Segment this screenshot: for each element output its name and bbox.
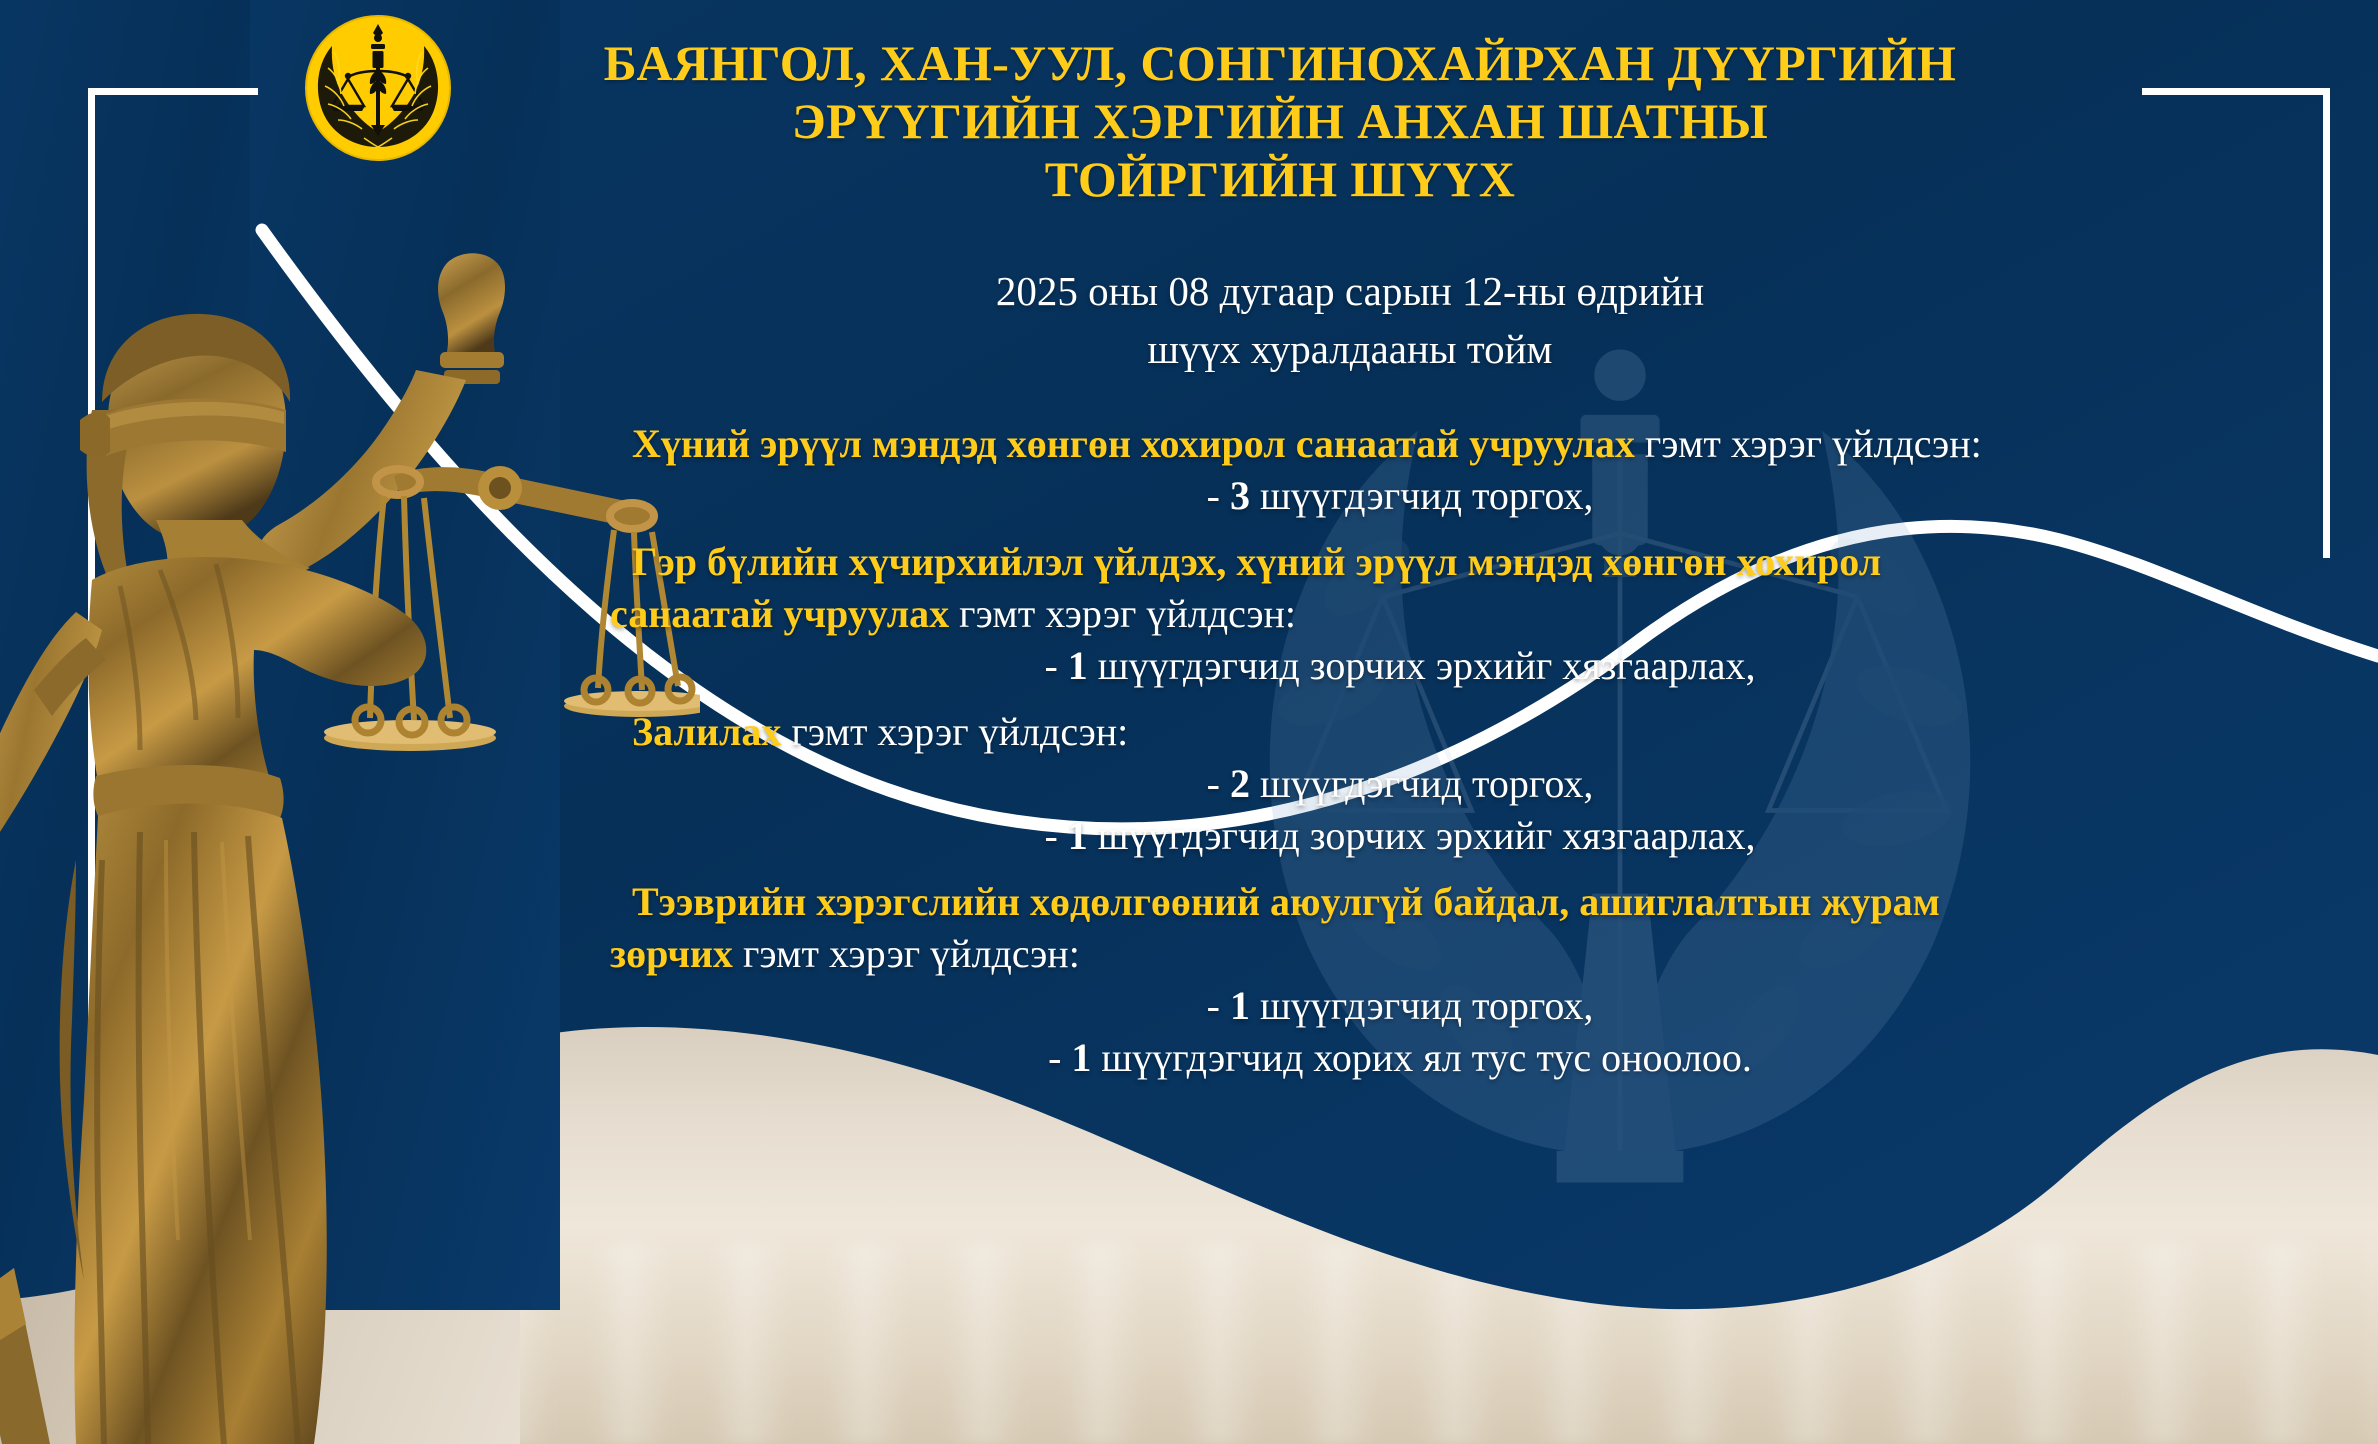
verdict-summary-body: Хүний эрүүл мэндэд хөнгөн хохирол санаат… [610,418,2130,1084]
date-line-1: 2025 оны 08 дугаар сарын 12-ны өдрийн [600,262,2100,320]
verdict-count: 1 [1071,1035,1091,1080]
verdict-line: - 1 шүүгдэгчид зорчих эрхийг хязгаарлах, [610,810,2130,862]
title-line-2: ЭРҮҮГИЙН ХЭРГИЙН АНХАН ШАТНЫ [470,92,2090,150]
verdict-count: 1 [1068,813,1088,858]
charge-suffix: гэмт хэрэг үйлдсэн: [949,591,1296,636]
verdict-count: 2 [1230,761,1250,806]
date-subtitle: 2025 оны 08 дугаар сарын 12-ны өдрийн шү… [600,262,2100,378]
charge-name-2: зөрчих [610,931,733,976]
court-summary-poster: БАЯНГОЛ, ХАН-УУЛ, СОНГИНОХАЙРХАН ДҮҮРГИЙ… [0,0,2378,1444]
verdict-text: шүүгдэгчид торгох, [1250,761,1593,806]
verdict-text: шүүгдэгчид хорих ял тус тус оноолоо. [1091,1035,1752,1080]
charge-line: Тээврийн хэрэгслийн хөдөлгөөний аюулгүй … [610,876,2130,928]
charge-name: Тээврийн хэрэгслийн хөдөлгөөний аюулгүй … [632,879,1940,924]
verdict-text: шүүгдэгчид торгох, [1250,983,1593,1028]
charge-name: Хүний эрүүл мэндэд хөнгөн хохирол санаат… [632,421,1635,466]
verdict-line: - 1 шүүгдэгчид торгох, [610,980,2130,1032]
charge-suffix: гэмт хэрэг үйлдсэн: [781,709,1128,754]
verdict-text: шүүгдэгчид зорчих эрхийг хязгаарлах, [1088,813,1756,858]
charge-name-2: санаатай учруулах [610,591,949,636]
verdict-text: шүүгдэгчид зорчих эрхийг хязгаарлах, [1088,643,1756,688]
verdict-line: - 2 шүүгдэгчид торгох, [610,758,2130,810]
title-line-1: БАЯНГОЛ, ХАН-УУЛ, СОНГИНОХАЙРХАН ДҮҮРГИЙ… [470,34,2090,92]
charge-suffix: гэмт хэрэг үйлдсэн: [1635,421,1982,466]
verdict-line: - 3 шүүгдэгчид торгох, [610,470,2130,522]
charge-suffix: гэмт хэрэг үйлдсэн: [733,931,1080,976]
verdict-count: 1 [1230,983,1250,1028]
charge-line-cont: санаатай учруулах гэмт хэрэг үйлдсэн: [610,588,2130,640]
charge-line: Залилах гэмт хэрэг үйлдсэн: [610,706,2130,758]
verdict-text: шүүгдэгчид торгох, [1250,473,1593,518]
verdict-dash: - [1044,643,1057,688]
lady-justice-statue [0,220,700,1444]
verdict-dash: - [1207,473,1220,518]
charge-line: Хүний эрүүл мэндэд хөнгөн хохирол санаат… [610,418,2130,470]
verdict-count: 3 [1230,473,1250,518]
page-title: БАЯНГОЛ, ХАН-УУЛ, СОНГИНОХАЙРХАН ДҮҮРГИЙ… [470,34,2090,208]
date-line-2: шүүх хуралдааны тойм [600,320,2100,378]
verdict-count: 1 [1068,643,1088,688]
verdict-line: - 1 шүүгдэгчид хорих ял тус тус оноолоо. [610,1032,2130,1084]
verdict-dash: - [1044,813,1057,858]
court-seal-emblem-icon [304,14,452,162]
verdict-dash: - [1207,983,1220,1028]
charge-line-cont: зөрчих гэмт хэрэг үйлдсэн: [610,928,2130,980]
verdict-line: - 1 шүүгдэгчид зорчих эрхийг хязгаарлах, [610,640,2130,692]
charge-line: Гэр бүлийн хүчирхийлэл үйлдэх, хүний эрү… [610,536,2130,588]
charge-name: Залилах [632,709,781,754]
charge-name: Гэр бүлийн хүчирхийлэл үйлдэх, хүний эрү… [632,539,1881,584]
verdict-dash: - [1048,1035,1061,1080]
title-line-3: ТОЙРГИЙН ШҮҮХ [470,150,2090,208]
verdict-dash: - [1207,761,1220,806]
